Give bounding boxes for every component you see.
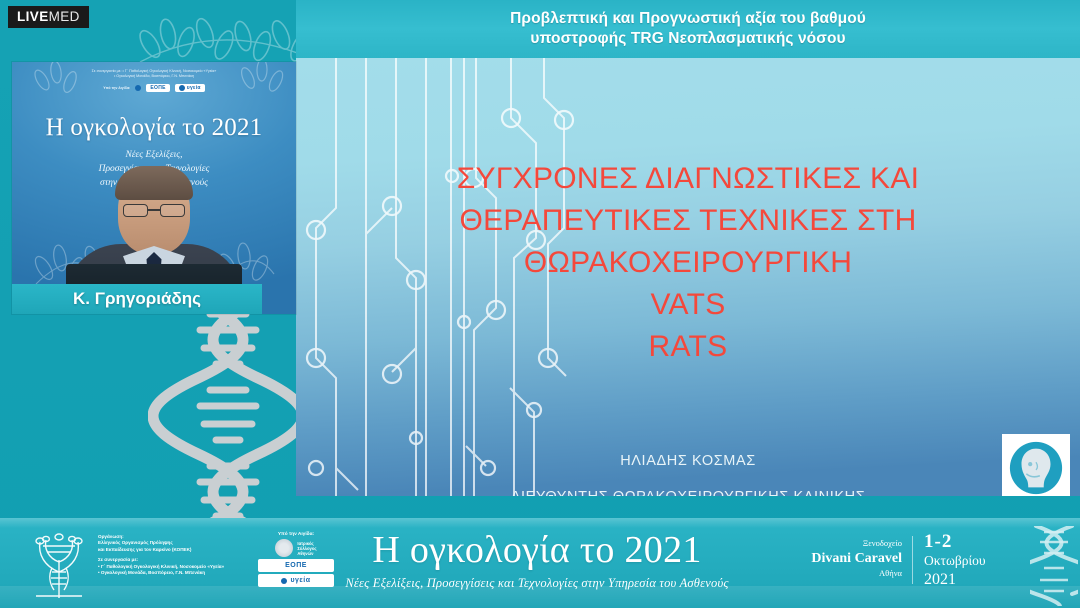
slide-title-line-1: ΣΥΓΧΡΟΝΕΣ ΔΙΑΓΝΩΣΤΙΚΕΣ ΚΑΙ — [296, 158, 1080, 200]
footer-sponsor-ygeia-label: υγεία — [290, 577, 310, 584]
video-cooperation-text: Σε συνεργασία με: • Γ΄ Παθολογική Ογκολο… — [12, 69, 296, 79]
medical-association-text: Ιατρικός Σύλλογος Αθηνών — [297, 541, 316, 556]
conference-footer-banner: Οργάνωση: Ελληνικός Οργανισμός Πρόληψης … — [0, 518, 1080, 608]
seal-line3: Αθηνών — [297, 551, 313, 556]
speaker-hair — [115, 166, 193, 200]
video-aegis-label: Υπό την Αιγίδα: — [103, 86, 130, 90]
livemed-logo-part2: MED — [49, 9, 80, 24]
speaker-video-tile[interactable]: Σε συνεργασία με: • Γ΄ Παθολογική Ογκολο… — [12, 62, 296, 314]
hygeia-head-icon — [1007, 439, 1065, 496]
medical-seal-icon — [275, 539, 293, 557]
video-sponsor-ygeia: υγεία — [175, 84, 205, 92]
footer-wave — [0, 586, 1080, 608]
video-backdrop-title: Η ογκολογία το 2021 — [12, 114, 296, 142]
slide-presenter-block: ΗΛΙΑΔΗΣ ΚΟΣΜΑΣ ΔΙΕΥΘΥΝΤΗΣ ΘΩΡΑΚΟΧΕΙΡΟΥΡΓ… — [296, 443, 1080, 496]
video-medical-seal-icon — [135, 85, 141, 91]
video-sponsor-ygeia-label: υγεία — [187, 85, 201, 91]
slide-title: ΣΥΓΧΡΟΝΕΣ ΔΙΑΓΝΩΣΤΙΚΕΣ ΚΑΙ ΘΕΡΑΠΕΥΤΙΚΕΣ … — [296, 158, 1080, 368]
date-month: Οκτωβρίου — [924, 551, 1016, 570]
venue-label: Ξενοδοχείο — [790, 536, 902, 551]
venue-name: Divani Caravel — [790, 551, 902, 566]
date-days: 1-2 — [924, 532, 1016, 551]
video-backdrop-sub1: Νέες Εξελίξεις, — [12, 148, 296, 162]
livemed-logo: LIVEMED — [8, 6, 89, 28]
video-coop-line2: • Ογκολογική Μονάδα, Βοσπόρειο, Γ.Ν. Μπε… — [12, 74, 296, 79]
footer-organizer-text: Οργάνωση: Ελληνικός Οργανισμός Πρόληψης … — [98, 534, 240, 576]
footer-divider — [912, 536, 913, 584]
footer-venue-block: Ξενοδοχείο Divani Caravel Αθήνα — [790, 536, 902, 581]
footer-conference-title: Η ογκολογία το 2021 — [322, 528, 752, 572]
video-ygeia-mark-icon — [179, 85, 185, 91]
session-title-line1: Προβλεπτική και Προγνωστική αξία του βαθ… — [510, 9, 866, 29]
venue-city: Αθήνα — [790, 566, 902, 581]
speaker-glasses-icon — [123, 204, 185, 217]
footer-date-block: 1-2 Οκτωβρίου 2021 — [924, 532, 1016, 589]
slide-title-line-3: ΘΩΡΑΚΟΧΕΙΡΟΥΡΓΙΚΗ — [296, 242, 1080, 284]
speaker-name-label: Κ. Γρηγοριάδης — [73, 289, 201, 309]
slide-title-line-5: RATS — [296, 326, 1080, 368]
video-sponsor-eope: ΕΟΠΕ — [146, 84, 169, 92]
session-title-bar: Προβλεπτική και Προγνωστική αξία του βαθ… — [296, 0, 1080, 58]
screen-root: LIVEMED Προβλεπτική και Προγνωστική αξία… — [0, 0, 1080, 608]
footer-coop-line2: • Ογκολογική Μονάδα, Βοσπόρειο, Γ.Ν. Μπε… — [98, 570, 240, 576]
session-title-line2: υποστροφής TRG Νεοπλασματικής νόσου — [530, 29, 845, 49]
presenter-role: ΔΙΕΥΘΥΝΤΗΣ ΘΩΡΑΚΟΧΕΙΡΟΥΡΓΙΚΗΣ ΚΛΙΝΙΚΗΣ — [296, 479, 1080, 496]
presentation-slide[interactable]: ΣΥΓΧΡΟΝΕΣ ΔΙΑΓΝΩΣΤΙΚΕΣ ΚΑΙ ΘΕΡΑΠΕΥΤΙΚΕΣ … — [296, 58, 1080, 496]
slide-title-line-4: VATS — [296, 284, 1080, 326]
hygeia-logo — [1002, 434, 1070, 496]
presenter-name: ΗΛΙΑΔΗΣ ΚΟΣΜΑΣ — [296, 443, 1080, 479]
livemed-logo-part1: LIVE — [17, 9, 49, 24]
dna-helix-icon — [148, 300, 308, 530]
slide-title-line-2: ΘΕΡΑΠΕΥΤΙΚΕΣ ΤΕΧΝΙΚΕΣ ΣΤΗ — [296, 200, 1080, 242]
video-sponsor-logos: Υπό την Αιγίδα: ΕΟΠΕ υγεία — [12, 84, 296, 92]
footer-gloss — [0, 518, 1080, 528]
speaker-name-bar: Κ. Γρηγοριάδης — [12, 284, 262, 314]
footer-sponsor-eope-label: ΕΟΠΕ — [285, 562, 307, 569]
video-sponsor-eope-label: ΕΟΠΕ — [150, 85, 165, 91]
footer-ygeia-mark-icon — [281, 578, 287, 584]
